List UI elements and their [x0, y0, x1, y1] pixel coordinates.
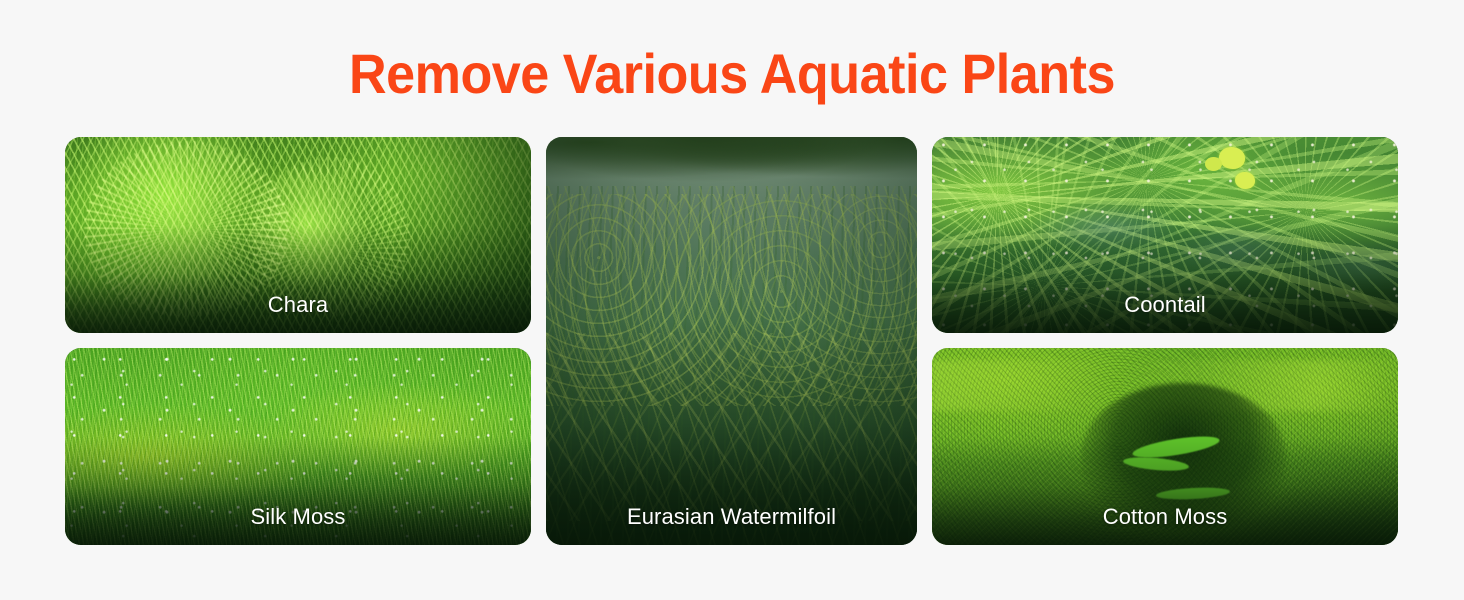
- plant-card-cotton-moss[interactable]: Cotton Moss: [932, 348, 1398, 545]
- plant-label-eurasian-watermilfoil: Eurasian Watermilfoil: [546, 503, 917, 531]
- plant-label-chara: Chara: [65, 291, 531, 319]
- plant-card-silk-moss[interactable]: Silk Moss: [65, 348, 531, 545]
- plant-card-chara[interactable]: Chara: [65, 137, 531, 333]
- plant-card-grid: Chara Eurasian Watermilfoil: [65, 137, 1399, 545]
- plant-label-silk-moss: Silk Moss: [65, 503, 531, 531]
- aquatic-plants-banner: Remove Various Aquatic Plants Chara: [0, 0, 1464, 600]
- duckweed-cluster-upper: [1219, 147, 1245, 169]
- page-title: Remove Various Aquatic Plants: [51, 40, 1413, 108]
- plant-card-coontail[interactable]: Coontail: [932, 137, 1398, 333]
- duckweed-cluster-mid: [1205, 157, 1222, 171]
- plant-label-cotton-moss: Cotton Moss: [932, 503, 1398, 531]
- duckweed-cluster-lower: [1235, 172, 1255, 189]
- plant-label-coontail: Coontail: [932, 291, 1398, 319]
- plant-card-eurasian-watermilfoil[interactable]: Eurasian Watermilfoil: [546, 137, 917, 545]
